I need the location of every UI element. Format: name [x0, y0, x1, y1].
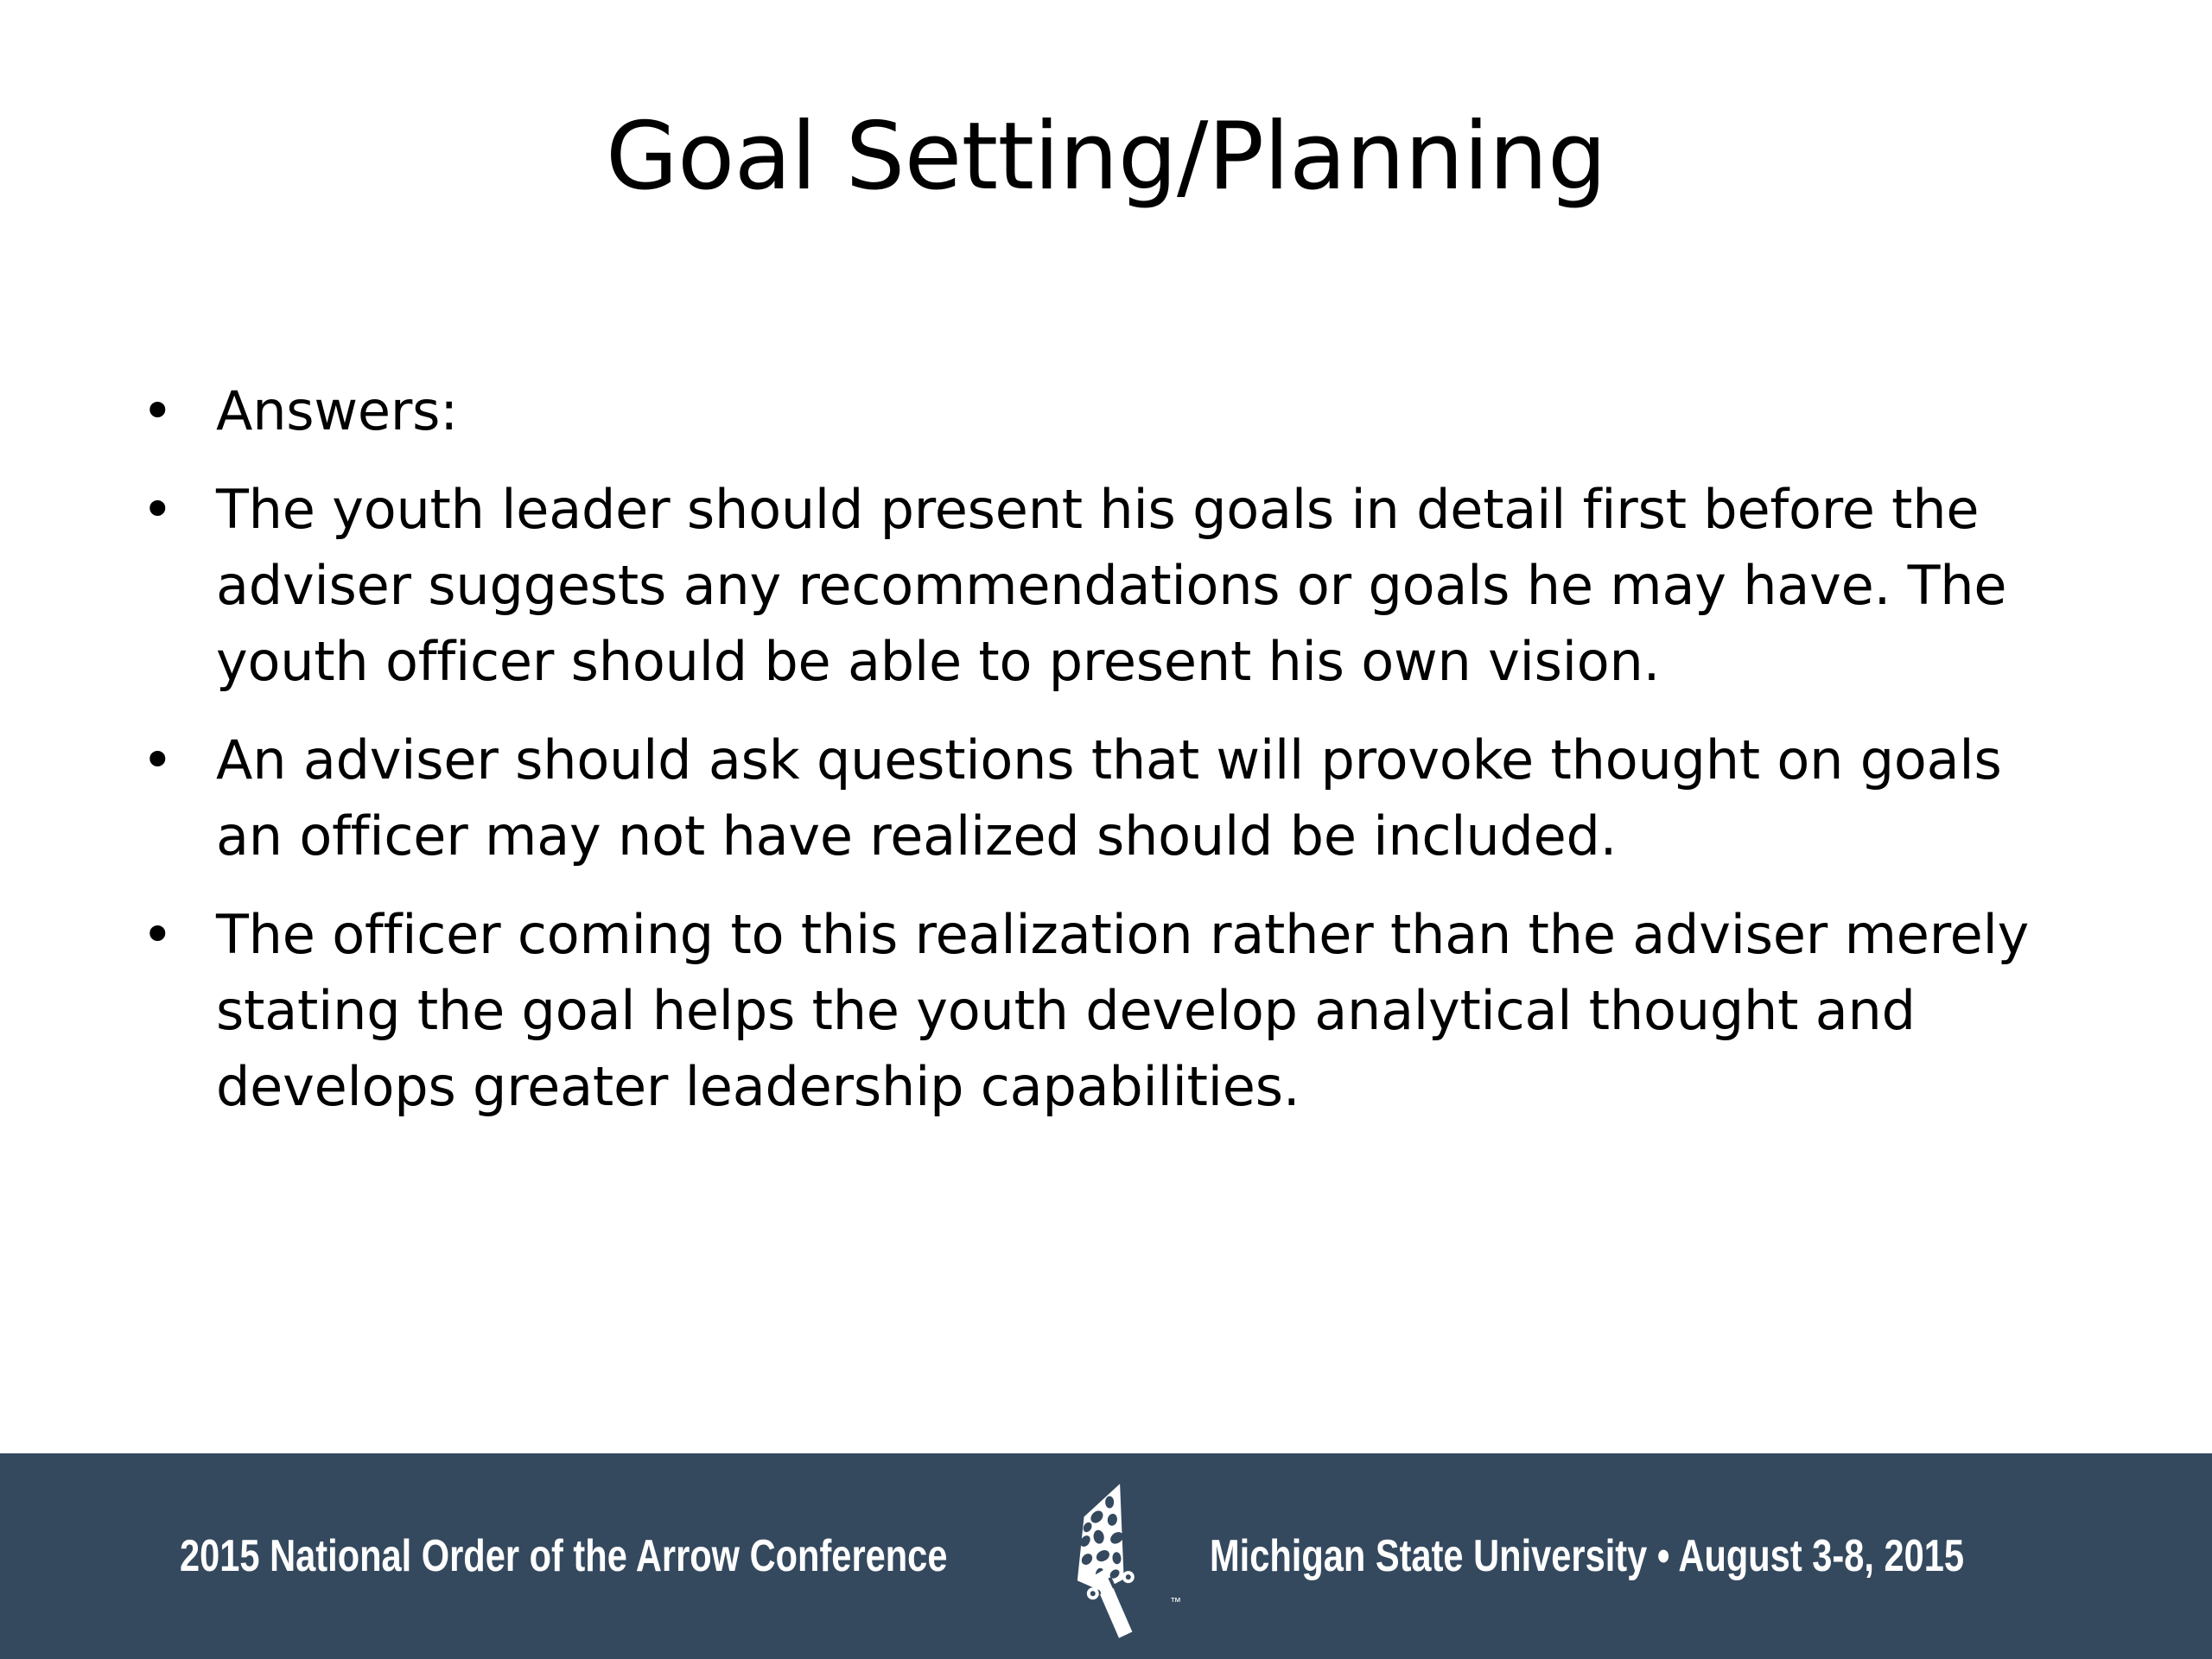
footer-conference-name-text: 2015 National Order of the Arrow Confere…: [180, 1530, 947, 1582]
list-item-text: The officer coming to this realization r…: [216, 897, 2056, 1125]
bullet-list: • Answers: • The youth leader should pre…: [130, 373, 2065, 1125]
bullet-point-icon: •: [130, 472, 216, 548]
list-item: • An adviser should ask questions that w…: [130, 722, 2065, 874]
list-item-text: The youth leader should present his goal…: [216, 472, 2056, 700]
list-item: • The officer coming to this realization…: [130, 897, 2065, 1125]
footer-conference-name: 2015 National Order of the Arrow Confere…: [180, 1530, 1140, 1582]
list-item: • Answers:: [130, 373, 2065, 449]
page-title: Goal Setting/Planning: [0, 111, 2212, 204]
bullet-point-icon: •: [130, 897, 216, 973]
list-item-text: Answers:: [216, 373, 2056, 449]
list-item: • The youth leader should present his go…: [130, 472, 2065, 700]
footer-venue-date: Michigan State University • August 3-8, …: [1210, 1530, 2152, 1582]
footer-venue-date-text: Michigan State University • August 3-8, …: [1210, 1530, 1964, 1582]
list-item-text: An adviser should ask questions that wil…: [216, 722, 2056, 874]
bullet-point-icon: •: [130, 722, 216, 798]
trademark-symbol: ™: [1170, 1595, 1181, 1608]
slide-canvas: Goal Setting/Planning • Answers: • The y…: [0, 0, 2212, 1659]
arrowhead-logo: ™: [1027, 1476, 1191, 1640]
bullet-point-icon: •: [130, 373, 216, 449]
